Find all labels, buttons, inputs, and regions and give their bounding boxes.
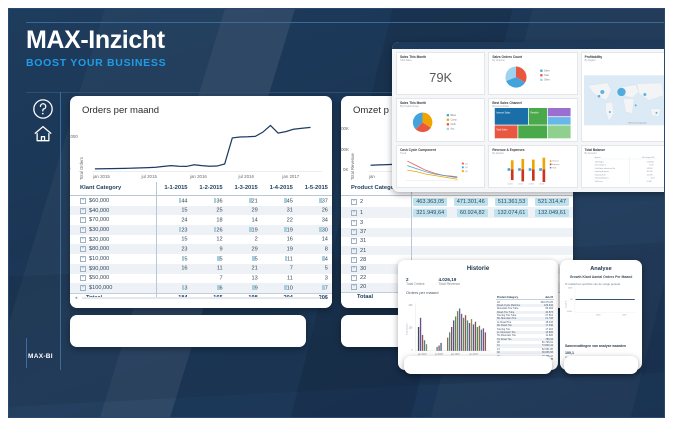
table-cell: 26 — [192, 225, 227, 235]
row-category-cell[interactable]: +21 — [341, 246, 411, 255]
table-cell — [451, 218, 492, 227]
svg-text:Revenue: Revenue — [553, 160, 559, 162]
tile-body: Revenue Expenses Profit Q1 2015Q2 2015 Q… — [491, 155, 574, 185]
value-highlight: 132.049,61 — [535, 209, 569, 217]
svg-text:Total Sales: Total Sales — [497, 129, 509, 132]
value-bar — [322, 256, 325, 262]
svg-text:Internet Sales: Internet Sales — [497, 112, 512, 115]
table-col-header-date[interactable]: 1-1-2015 — [156, 182, 191, 196]
table-cell: 31 — [262, 206, 297, 216]
value-bar — [249, 198, 252, 204]
table-cell — [492, 218, 533, 227]
value-bar — [217, 285, 220, 291]
svg-text:Total Budget: Total Budget — [594, 160, 603, 163]
svg-text:Q2: Q2 — [465, 167, 468, 169]
svg-text:Profit: Profit — [553, 166, 557, 169]
table-cell: 471.301,46 — [451, 196, 492, 208]
expand-icon[interactable]: + — [80, 256, 86, 262]
svg-text:Growth %: Growth % — [565, 300, 568, 308]
tile-sales-this-month-kpi[interactable]: Sales This Month Total Sales 79K — [396, 52, 485, 95]
expand-icon[interactable]: + — [80, 237, 86, 243]
table-cell: 15 — [156, 235, 191, 245]
svg-text:Operating Profit: Operating Profit — [594, 173, 606, 176]
table-col-header-date[interactable]: 1-4-2015 — [262, 182, 297, 196]
table-cell: 45 — [262, 196, 297, 206]
table-cell: 23 — [156, 225, 191, 235]
table-row[interactable]: +$100,000369107 — [70, 283, 332, 293]
table-col-header-date[interactable]: 1-2-2015 — [192, 182, 227, 196]
expand-icon[interactable]: + — [351, 257, 357, 263]
app-header: MAX-Inzicht BOOST YOUR BUSINESS — [26, 28, 166, 69]
table-cell — [532, 237, 573, 246]
expand-icon[interactable]: + — [80, 246, 86, 252]
table-cell: 30 — [297, 225, 332, 235]
table-row[interactable]: +31 — [341, 237, 573, 246]
svg-text:-100%: -100% — [567, 311, 573, 313]
table-cell: 7 — [192, 274, 227, 284]
value-bar — [182, 256, 185, 262]
svg-text:Sales: Sales — [544, 71, 551, 73]
tile-sales-orders-count-pie[interactable]: Sales Orders Count By Channel Sales To — [488, 52, 577, 95]
tile-body: Q1 Q2 Q3 — [399, 155, 482, 185]
expand-icon[interactable]: + — [351, 248, 357, 254]
table-cell: 29 — [227, 206, 262, 216]
table-cell: 18 — [192, 215, 227, 225]
tile-body: Sales Total Other — [491, 62, 574, 92]
svg-text:0%: 0% — [570, 299, 573, 301]
row-category-cell[interactable]: +$40,000 — [70, 206, 156, 216]
omzet-chart-ytick: 1.000K — [341, 147, 349, 152]
historie-kpis: 2 Total Orders 4.026,19 Total Revenue — [406, 277, 558, 286]
value-bar — [182, 285, 185, 291]
table-cell: 321.949,64 — [411, 207, 452, 218]
orders-line-chart: Total Orders 2000 0 jan 2015 jul 2015 ja… — [80, 122, 324, 184]
table-col-header-date[interactable]: 1-5-2015 — [297, 182, 332, 196]
expand-icon[interactable]: + — [351, 199, 357, 205]
svg-text:Comp.: Comp. — [451, 120, 458, 122]
tile-sales-this-month-pie[interactable]: Sales This Month By Product Group Bikes — [396, 98, 485, 141]
svg-text:73.08: 73.08 — [649, 164, 653, 166]
tile-total-balance-table[interactable]: Total Balance By Account AccountNet Chan… — [581, 145, 665, 188]
expand-icon[interactable]: + — [351, 210, 357, 216]
table-row[interactable]: +$60,0004436214537 — [70, 196, 332, 206]
table-cell: 12 — [192, 235, 227, 245]
table-cell: 11 — [192, 264, 227, 274]
table-cell: 9 — [192, 244, 227, 254]
svg-text:Gross Margin %: Gross Margin % — [594, 163, 606, 166]
value-highlight: 60.924,82 — [457, 209, 488, 217]
row-category-cell[interactable]: +$50,000 — [70, 274, 156, 284]
tile-cash-cycle-component-line[interactable]: Cash Cycle Component Trend Q1 Q2 Q3 — [396, 145, 485, 188]
sidebar-rail — [26, 92, 61, 370]
svg-text:150: 150 — [409, 327, 413, 329]
svg-text:Expenses: Expenses — [553, 164, 560, 166]
table-cell: 36 — [192, 196, 227, 206]
orders-panel-footer-card — [70, 315, 306, 347]
row-category-cell[interactable]: +$90,000 — [70, 264, 156, 274]
table-cell: 5 — [297, 264, 332, 274]
table-cell: 5 — [192, 254, 227, 264]
expand-icon[interactable]: + — [351, 220, 357, 226]
dashboard-topbar — [392, 42, 665, 49]
expand-icon[interactable]: + — [351, 266, 357, 272]
svg-text:Q1: Q1 — [465, 163, 468, 165]
home-icon[interactable] — [32, 123, 54, 145]
svg-text:© Microsoft Corporation: © Microsoft Corporation — [627, 122, 646, 125]
svg-text:300: 300 — [409, 305, 413, 307]
row-category-cell[interactable]: +2 — [341, 196, 411, 208]
table-cell: 16 — [262, 235, 297, 245]
svg-text:Other: Other — [544, 79, 550, 82]
table-cell: 132.074,61 — [492, 207, 533, 218]
analyse-panel: Analyse Growth Klant Aantal Orders Per M… — [560, 260, 642, 370]
value-bar — [214, 227, 217, 233]
table-cell — [492, 246, 533, 255]
table-cell: 11 — [262, 254, 297, 264]
expand-icon[interactable]: + — [80, 227, 86, 233]
table-row[interactable]: +$70,0002418142234 — [70, 215, 332, 225]
omzet-chart-ytick: 2.000K — [341, 126, 349, 131]
table-cell: 10 — [262, 283, 297, 293]
expand-icon[interactable]: + — [351, 284, 357, 290]
table-cell: 19 — [262, 225, 297, 235]
svg-text:1.065.000: 1.065.000 — [646, 161, 653, 163]
value-bar — [179, 198, 182, 204]
table-cell: 21 — [227, 264, 262, 274]
expand-icon[interactable]: + — [80, 198, 86, 204]
tile-body: Internet Sales Reseller Total Sales — [491, 108, 574, 138]
table-cell: 11 — [262, 274, 297, 284]
value-bar — [322, 285, 325, 291]
table-cell — [411, 218, 452, 227]
tile-profitability-map[interactable]: Profitability By Region — [581, 52, 665, 142]
table-cell: 14 — [227, 215, 262, 225]
dashboard-tile-grid: Sales This Month Total Sales 79K Sales O… — [396, 52, 665, 188]
expand-icon[interactable]: + — [80, 217, 86, 223]
expand-icon[interactable]: + — [80, 275, 86, 281]
omzet-chart-ylabel: Total Revenue — [350, 153, 355, 180]
svg-text:Total Taxes: Total Taxes — [594, 180, 602, 183]
table-col-header-category[interactable]: Klant Category — [70, 182, 156, 196]
svg-text:Q3 2015: Q3 2015 — [529, 183, 534, 185]
orders-chart-plot — [93, 124, 322, 172]
value-bar — [252, 256, 255, 262]
row-category-cell[interactable]: +$70,000 — [70, 215, 156, 225]
value-bar — [214, 198, 217, 204]
table-cell: 7 — [262, 264, 297, 274]
orders-chart-xtick: jul 2015 — [142, 174, 157, 179]
help-icon[interactable] — [32, 98, 54, 120]
table-cell: 19 — [262, 244, 297, 254]
value-bar — [249, 227, 252, 233]
header-top-rule — [26, 22, 665, 23]
table-row[interactable]: +$20,000151221614 — [70, 235, 332, 245]
table-row[interactable]: +1321.949,6460.924,82132.074,61132.049,6… — [341, 207, 573, 218]
table-row[interactable]: +$30,0002326191930 — [70, 225, 332, 235]
value-bar — [285, 256, 288, 262]
value-bar — [319, 227, 322, 233]
omzet-chart-xtick: jan — [369, 174, 375, 179]
table-cell: 22 — [262, 215, 297, 225]
value-bar — [179, 227, 182, 233]
table-cell — [451, 228, 492, 237]
orders-chart-xtick: jan 2016 — [190, 174, 207, 179]
row-category-cell[interactable]: +31 — [341, 237, 411, 246]
value-bar — [252, 285, 255, 291]
orders-chart-xtick: jan 2015 — [93, 174, 110, 179]
historie-panel: Historie 2 Total Orders 4.026,19 Total R… — [398, 260, 558, 370]
historie-footer-card — [404, 356, 552, 374]
orders-chart-xtick: jan 2017 — [282, 174, 299, 179]
orders-chart-ylabel: Total Orders — [79, 157, 84, 180]
historie-title: Historie — [398, 266, 558, 272]
footer-rule — [26, 338, 27, 368]
value-highlight: 511.361,53 — [495, 198, 529, 206]
kpi-label: Total Orders — [406, 282, 424, 286]
tile-best-sales-channel-treemap[interactable]: Best Sales Channel Revenue Share Interne… — [488, 98, 577, 141]
table-body: +$60,0004436214537+$40,0001525293126+$70… — [70, 196, 332, 304]
value-bar — [284, 285, 287, 291]
table-cell: 132.049,61 — [532, 207, 573, 218]
table-row[interactable]: +2463.363,05471.301,46511.361,53521.314,… — [341, 196, 573, 208]
svg-text:Q4 2015: Q4 2015 — [540, 183, 545, 185]
table-cell — [411, 228, 452, 237]
omzet-chart-ytick: 0K — [343, 167, 348, 172]
value-bar — [284, 227, 287, 233]
svg-text:Net Change 2015: Net Change 2015 — [642, 156, 654, 159]
value-bar — [284, 198, 287, 204]
svg-text:67.400: 67.400 — [646, 181, 651, 183]
row-category-cell[interactable]: +$100,000 — [70, 283, 156, 293]
table-cell — [411, 237, 452, 246]
table-divider — [156, 182, 157, 298]
svg-text:Operating Margin %: Operating Margin % — [594, 176, 609, 179]
row-category-cell[interactable]: +37 — [341, 228, 411, 237]
table-cell — [156, 274, 191, 284]
kpi-label: Total Revenue — [438, 282, 460, 286]
table-cell: 29 — [227, 244, 262, 254]
screenshot-root: MAX-Inzicht BOOST YOUR BUSINESS — [0, 0, 673, 426]
table-cell: 21 — [227, 196, 262, 206]
svg-text:Account: Account — [594, 156, 600, 159]
table-col-header-date[interactable]: 1-3-2015 — [227, 182, 262, 196]
table-row[interactable]: +37 — [341, 228, 573, 237]
analyse-subtitle: Growth Klant Aantal Orders Per Maand — [560, 275, 642, 279]
expand-icon[interactable]: + — [351, 275, 357, 281]
scroll-left-arrow[interactable]: ◄ — [74, 295, 78, 300]
table-cell: 5 — [156, 254, 191, 264]
table-cell — [532, 228, 573, 237]
tile-body: Bikes Comp. Cloth. Acc. — [399, 108, 482, 138]
table-cell: 7 — [297, 283, 332, 293]
table-cell: 4 — [297, 254, 332, 264]
orders-panel: Orders per maand Total Orders 2000 0 jan… — [70, 96, 332, 308]
app-canvas: MAX-Inzicht BOOST YOUR BUSINESS — [8, 8, 665, 418]
analyse-footer-card — [564, 356, 638, 374]
kpi-value: 79K — [399, 62, 482, 92]
svg-text:487.200: 487.200 — [646, 171, 652, 173]
historie-chart-title: Orders per maand — [406, 290, 558, 295]
scroll-track[interactable] — [82, 297, 320, 299]
row-category-cell[interactable]: +3 — [341, 218, 411, 227]
table-cell: 3 — [297, 274, 332, 284]
expand-icon[interactable]: + — [80, 208, 86, 214]
row-category-cell[interactable]: +1 — [341, 207, 411, 218]
table-cell: 521.314,47 — [532, 196, 573, 208]
table-cell: 6 — [192, 283, 227, 293]
historie-kpi: 2 Total Orders — [406, 277, 424, 286]
table-cell: 511.361,53 — [492, 196, 533, 208]
table-cell — [451, 237, 492, 246]
expand-icon[interactable]: + — [351, 238, 357, 244]
table-row[interactable]: +$90,00016112175 — [70, 264, 332, 274]
svg-text:Bikes: Bikes — [451, 115, 457, 117]
powerbi-dashboard: Sales This Month Total Sales 79K Sales O… — [392, 42, 665, 192]
expand-icon[interactable]: + — [80, 266, 86, 272]
orders-chart-ytick: 2000 — [70, 134, 78, 139]
table-cell: 37 — [297, 196, 332, 206]
historie-kpi: 4.026,19 Total Revenue — [438, 277, 460, 286]
svg-text:224.870: 224.870 — [646, 174, 652, 176]
row-category-cell[interactable]: +$10,000 — [70, 254, 156, 264]
table-cell: 44 — [156, 196, 191, 206]
table-cell: 2 — [227, 235, 262, 245]
svg-text:100%: 100% — [568, 288, 573, 290]
table-row[interactable]: +$40,0001525293126 — [70, 206, 332, 216]
row-category-cell[interactable]: +$80,000 — [70, 244, 156, 254]
table-cell: 5 — [227, 254, 262, 264]
svg-text:Acc.: Acc. — [451, 128, 456, 131]
tile-body: © Microsoft Corporation — [584, 62, 665, 139]
footer-logo: MAX-BI — [28, 353, 53, 360]
table-cell: 16 — [156, 264, 191, 274]
svg-text:Q2 2015: Q2 2015 — [518, 183, 523, 185]
tile-revenue-expenses-bar[interactable]: Revenue & Expenses By Quarter — [488, 145, 577, 188]
svg-text:Q3: Q3 — [465, 171, 469, 173]
value-highlight: 132.074,61 — [494, 209, 528, 217]
table-cell — [532, 218, 573, 227]
svg-text:11.03: 11.03 — [650, 177, 654, 179]
table-cell: 19 — [227, 225, 262, 235]
table-cell: 34 — [297, 215, 332, 225]
row-category-cell[interactable]: +$20,000 — [70, 235, 156, 245]
table-cell: 3 — [156, 283, 191, 293]
table-cell: 60.924,82 — [451, 207, 492, 218]
table-cell: 26 — [297, 206, 332, 216]
table-cell — [451, 246, 492, 255]
table-cell: 13 — [227, 274, 262, 284]
table-cell — [532, 246, 573, 255]
table-cell: 24 — [156, 215, 191, 225]
svg-text:2015: 2015 — [596, 314, 600, 316]
table-row[interactable]: +$10,000555114 — [70, 254, 332, 264]
klant-category-table[interactable]: Klant Category1-1-20151-2-20151-3-20151-… — [70, 182, 332, 303]
table-cell — [492, 237, 533, 246]
page-subtitle: BOOST YOUR BUSINESS — [26, 57, 166, 69]
svg-text:Cloth.: Cloth. — [451, 123, 457, 126]
svg-text:Total: Total — [544, 74, 549, 77]
value-highlight: 521.314,47 — [535, 198, 569, 206]
historie-category-table[interactable]: Product CategoryJan-1518463.373,05Road-C… — [496, 296, 554, 362]
value-bar — [217, 256, 220, 262]
row-category-cell[interactable]: +$60,000 — [70, 196, 156, 206]
analyse-title: Analyse — [560, 266, 642, 272]
page-title: MAX-Inzicht — [26, 28, 166, 53]
svg-text:Reseller: Reseller — [531, 113, 540, 115]
scroll-right-arrow[interactable]: ► — [324, 295, 328, 300]
svg-text:0: 0 — [411, 350, 413, 352]
analyse-line-chart: 100%0%-100% 20152017 Growth % — [565, 284, 637, 316]
table-cell: 9 — [227, 283, 262, 293]
expand-icon[interactable]: + — [80, 285, 86, 291]
table-row[interactable]: +21 — [341, 246, 573, 255]
historie-bar-chart: 3001500 jan 2015jul 2015 jan 2016jan 201… — [406, 298, 492, 360]
svg-text:Operating Expenses: Operating Expenses — [594, 170, 609, 173]
table-cell: 463.363,05 — [411, 196, 452, 208]
value-highlight: 321.949,64 — [413, 209, 447, 217]
orders-panel-title: Orders per maand — [82, 105, 332, 116]
table-cell — [492, 228, 533, 237]
horizontal-scrollbar[interactable]: ◄ ► — [74, 295, 328, 300]
svg-text:Total Orders: Total Orders — [406, 323, 408, 335]
value-bar — [319, 198, 322, 204]
svg-text:Q1 2015: Q1 2015 — [508, 183, 513, 185]
tile-body: 79K — [399, 62, 482, 92]
svg-text:Profit Before Interest and Tax: Profit Before Interest and Tax — [594, 167, 615, 170]
table-header-row: Klant Category1-1-20151-2-20151-3-20151-… — [70, 182, 332, 196]
table-cell: 8 — [297, 244, 332, 254]
value-highlight: 471.301,46 — [454, 198, 488, 206]
analyse-section-title: Samenvattingen van analyse waarden — [565, 344, 642, 348]
table-row[interactable]: +3 — [341, 218, 573, 227]
value-highlight: 463.363,05 — [413, 198, 447, 206]
table-cell: 25 — [192, 206, 227, 216]
svg-text:2017: 2017 — [622, 314, 626, 316]
expand-icon[interactable]: + — [351, 229, 357, 235]
orders-chart-xtick: jul 2016 — [239, 174, 254, 179]
table-cell: 15 — [156, 206, 191, 216]
table-cell: 23 — [156, 244, 191, 254]
table-row[interactable]: +$50,000713113 — [70, 274, 332, 284]
table-cell: 14 — [297, 235, 332, 245]
tile-body: AccountNet Change 2015 Total Budget1.065… — [584, 155, 665, 185]
table-cell — [411, 246, 452, 255]
svg-text:248.500: 248.500 — [646, 168, 652, 170]
row-category-cell[interactable]: +$30,000 — [70, 225, 156, 235]
table-row[interactable]: +$80,00023929198 — [70, 244, 332, 254]
